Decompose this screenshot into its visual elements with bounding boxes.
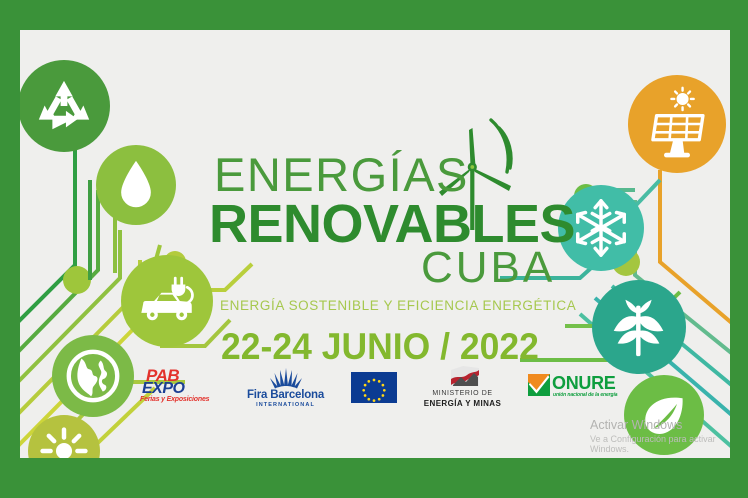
poster-panel: ENERGÍAS RENOVABLES CUBA ENERGÍA SOSTENI… bbox=[20, 30, 730, 458]
sponsor-logo-row: PAB EXPO Ferias y Exposiciones bbox=[140, 360, 620, 416]
poster-root: ENERGÍAS RENOVABLES CUBA ENERGÍA SOSTENI… bbox=[0, 0, 748, 498]
fira-name-text: Fira Barcelona bbox=[243, 389, 329, 401]
event-subtitle: ENERGÍA SOSTENIBLE Y EFICIENCIA ENERGÉTI… bbox=[220, 298, 576, 313]
fira-barcelona-logo: Fira Barcelona INTERNATIONAL bbox=[243, 365, 329, 411]
minem-emblem-icon bbox=[420, 365, 506, 391]
onure-tagline: unión nacional de la energía bbox=[553, 392, 617, 398]
windows-activation-watermark: Activar Windows Ve a Configuración para … bbox=[590, 418, 730, 454]
ministerio-energia-minas-logo: MINISTERIO DE ENERGÍA Y MINAS bbox=[420, 365, 506, 411]
watermark-title: Activar Windows bbox=[590, 418, 730, 432]
fira-burst-icon bbox=[243, 365, 329, 389]
onure-check-icon bbox=[528, 374, 550, 396]
minem-line2: ENERGÍA Y MINAS bbox=[420, 399, 506, 408]
title-line-cuba: CUBA bbox=[421, 243, 555, 293]
pabexpo-tagline: Ferias y Exposiciones bbox=[140, 396, 209, 403]
fira-international-text: INTERNATIONAL bbox=[243, 402, 329, 408]
onure-logo: ONURE unión nacional de la energía bbox=[528, 372, 620, 404]
european-union-flag bbox=[351, 372, 397, 404]
minem-line1: MINISTERIO DE bbox=[420, 390, 506, 397]
watermark-subtitle: Ve a Configuración para activar Windows. bbox=[590, 434, 730, 454]
pabexpo-logo: PAB EXPO Ferias y Exposiciones bbox=[140, 366, 220, 410]
onure-name-text: ONURE bbox=[552, 373, 616, 394]
